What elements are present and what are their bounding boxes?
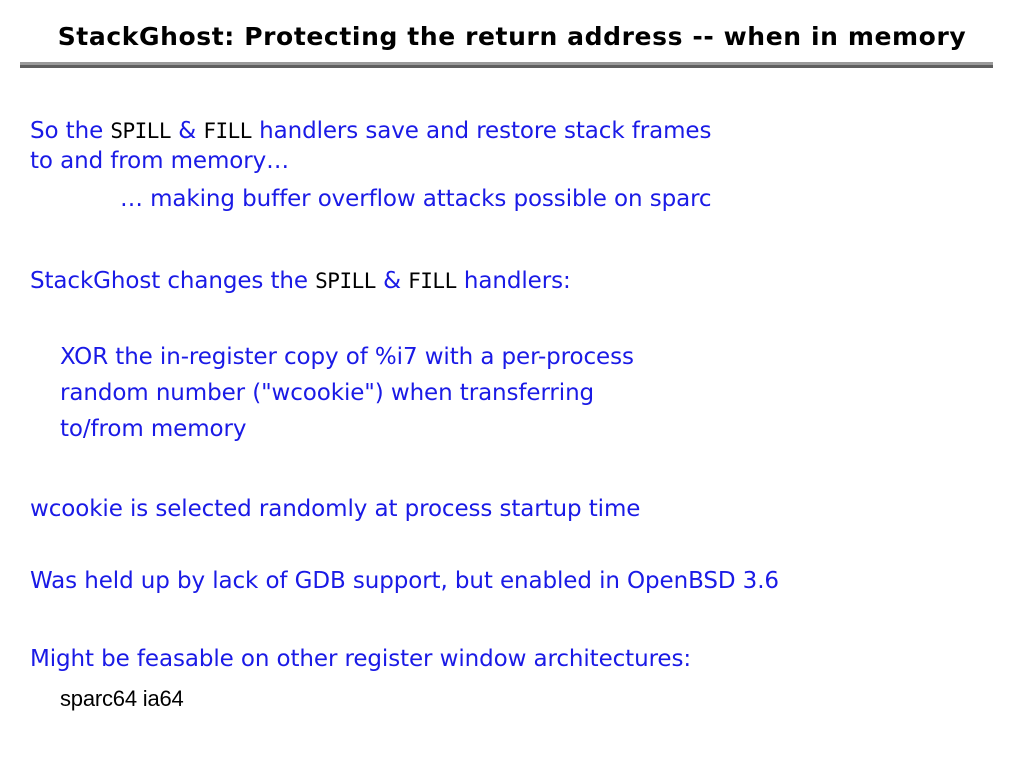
paragraph-1-line-1: So the SPILL & FILL handlers save and re…: [30, 118, 711, 144]
p2-text-after: handlers:: [457, 268, 571, 294]
p2-text-before: StackGhost changes the: [30, 268, 315, 294]
p2-fill-keyword: FILL: [408, 269, 457, 293]
paragraph-6-line-1: Might be feasable on other register wind…: [30, 646, 691, 672]
p1-text-before: So the: [30, 118, 110, 144]
p1-ampersand: &: [171, 118, 203, 144]
slide-header: StackGhost: Protecting the return addres…: [0, 24, 1024, 49]
paragraph-4-line-1: wcookie is selected randomly at process …: [30, 496, 640, 522]
paragraph-6-architectures: sparc64 ia64: [60, 686, 184, 712]
title-divider-shadow: [20, 65, 993, 68]
p1-spill-keyword: SPILL: [110, 119, 171, 143]
paragraph-3-line-1: XOR the in-register copy of %i7 with a p…: [60, 344, 634, 370]
paragraph-1-line-3: … making buffer overflow attacks possibl…: [120, 186, 711, 212]
slide-canvas: StackGhost: Protecting the return addres…: [0, 0, 1024, 768]
paragraph-5-line-1: Was held up by lack of GDB support, but …: [30, 568, 779, 594]
slide-body: So the SPILL & FILL handlers save and re…: [0, 118, 1024, 758]
p2-ampersand: &: [376, 268, 408, 294]
p2-spill-keyword: SPILL: [315, 269, 376, 293]
paragraph-2-line-1: StackGhost changes the SPILL & FILL hand…: [30, 268, 571, 294]
paragraph-3-line-3: to/from memory: [60, 416, 246, 442]
paragraph-3-line-2: random number ("wcookie") when transferr…: [60, 380, 594, 406]
paragraph-1-line-2: to and from memory…: [30, 148, 289, 174]
page-title: StackGhost: Protecting the return addres…: [0, 24, 1024, 49]
p1-fill-keyword: FILL: [203, 119, 252, 143]
p1-text-after: handlers save and restore stack frames: [252, 118, 711, 144]
title-divider: [20, 62, 993, 68]
